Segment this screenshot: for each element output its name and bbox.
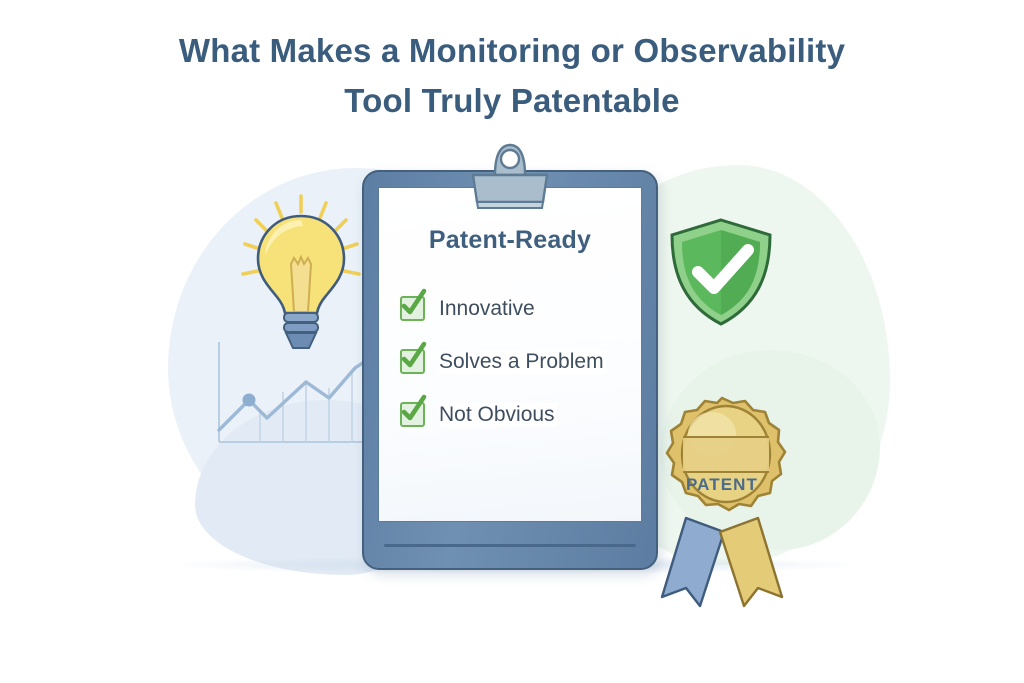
badge-ribbon-right (720, 518, 782, 606)
lightbulb-base-ring (284, 323, 318, 332)
checklist-item-label: Solves a Problem (439, 350, 606, 374)
checkbox-checked-icon[interactable] (400, 402, 425, 427)
clip-body (473, 175, 547, 202)
checklist-item[interactable]: Solves a Problem (400, 335, 700, 388)
badge-band (683, 437, 769, 472)
page-title-line-2: Tool Truly Patentable (0, 76, 1024, 126)
lightbulb-filament (291, 257, 311, 312)
patent-badge-svg (642, 392, 802, 614)
lightbulb-base-ring (284, 313, 318, 322)
badge-ribbon-left (662, 518, 724, 606)
clipboard-bottom-line (384, 544, 636, 547)
lightbulb-svg (236, 192, 366, 357)
clipboard: Patent-Ready Innovative Solv (362, 170, 658, 570)
checklist-item-label: Innovative (439, 297, 537, 321)
checkmark-icon (397, 393, 429, 425)
lightbulb-base-tip (286, 333, 316, 348)
checklist-item[interactable]: Innovative (400, 282, 700, 335)
chart-marker (243, 394, 256, 407)
chart-line-series (219, 356, 373, 430)
lightbulb-icon (236, 192, 366, 357)
clipboard-clip-icon (463, 142, 557, 212)
clipboard-clip-svg (463, 142, 557, 212)
page-title-line-1: What Makes a Monitoring or Observability (0, 26, 1024, 76)
checkbox-checked-icon[interactable] (400, 296, 425, 321)
checkmark-icon (397, 287, 429, 319)
patent-award-badge-icon: PATENT (642, 392, 802, 614)
page-title: What Makes a Monitoring or Observability… (0, 26, 1024, 126)
clip-hole (501, 150, 519, 168)
checkmark-icon (397, 340, 429, 372)
checklist-item-label: Not Obvious (439, 403, 557, 427)
clip-lip (477, 202, 543, 208)
checkbox-checked-icon[interactable] (400, 349, 425, 374)
illustration-canvas: What Makes a Monitoring or Observability… (0, 0, 1024, 683)
paper-heading: Patent-Ready (378, 226, 642, 255)
